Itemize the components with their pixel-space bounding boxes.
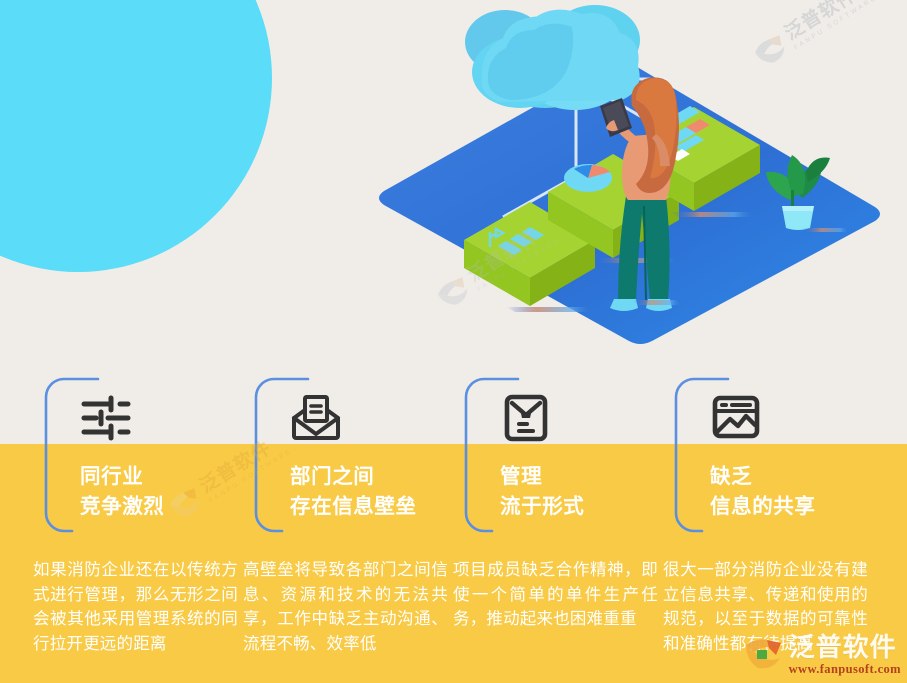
fanpu-brand-logo-icon bbox=[743, 637, 783, 671]
feature-column-0: 同行业 竞争激烈 如果消防企业还在以传统方式进行管理，那么无形之间会被其他采用管… bbox=[30, 370, 240, 683]
open-envelope-icon bbox=[290, 392, 342, 444]
feature-body-2: 项目成员缺乏合作精神，即使一个简单的单件生产任务，推动起来也困难重重 bbox=[453, 558, 658, 632]
feature-body-0: 如果消防企业还在以传统方式进行管理，那么无形之间会被其他采用管理系统的同行拉开更… bbox=[33, 558, 238, 656]
feature-body-1: 高壁垒将导致各部门之间信息、资源和技术的无法共享，工作中缺乏主动沟通、流程不畅、… bbox=[243, 558, 448, 656]
brand-name: 泛普软件 bbox=[789, 634, 901, 660]
hero-illustration bbox=[370, 0, 907, 360]
brand-url: www.fanpusoft.com bbox=[789, 663, 901, 676]
sliders-icon bbox=[80, 392, 132, 444]
chart-window-icon bbox=[710, 392, 762, 444]
feature-column-2: 管理 流于形式 项目成员缺乏合作精神，即使一个简单的单件生产任务，推动起来也困难… bbox=[450, 370, 660, 683]
poster-canvas: 同行业 竞争激烈 如果消防企业还在以传统方式进行管理，那么无形之间会被其他采用管… bbox=[0, 0, 907, 683]
brand-logo: 泛普软件 www.fanpusoft.com bbox=[743, 634, 901, 676]
document-envelope-icon bbox=[500, 392, 552, 444]
feature-heading-3: 缺乏 信息的共享 bbox=[710, 462, 900, 522]
decorative-cyan-circle bbox=[0, 0, 272, 272]
feature-column-1: 部门之间 存在信息壁垒 高壁垒将导致各部门之间信息、资源和技术的无法共享，工作中… bbox=[240, 370, 450, 683]
